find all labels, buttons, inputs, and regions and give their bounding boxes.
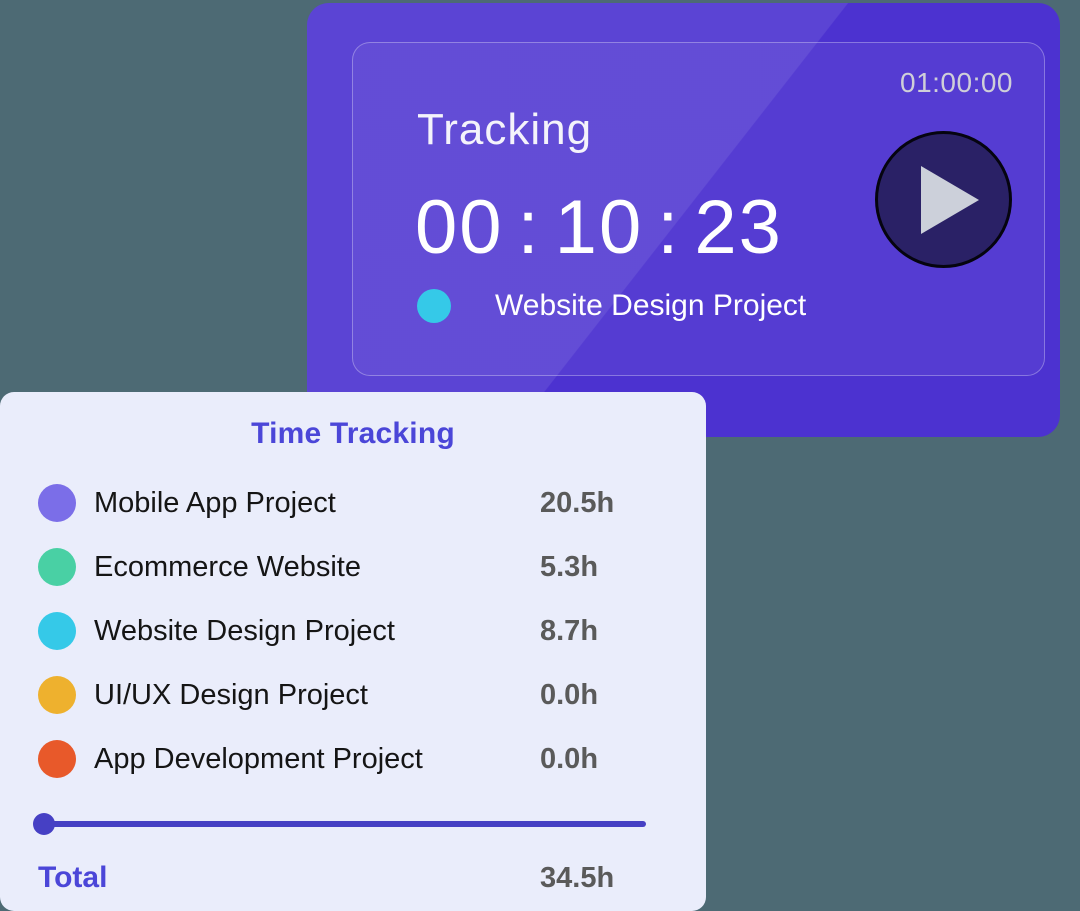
total-label: Total	[38, 861, 107, 895]
list-item[interactable]: App Development Project 0.0h	[0, 727, 706, 791]
project-color-dot	[38, 548, 76, 586]
current-project[interactable]: Website Design Project	[417, 289, 806, 323]
tracking-inner-panel: 01:00:00 Tracking 00:10:23 Website Desig…	[352, 42, 1045, 376]
project-name: Mobile App Project	[94, 487, 336, 520]
project-color-dot	[38, 676, 76, 714]
list-item[interactable]: Ecommerce Website 5.3h	[0, 535, 706, 599]
project-color-dot	[38, 740, 76, 778]
project-color-dot	[38, 484, 76, 522]
timer-minutes: 10	[555, 185, 644, 270]
elapsed-timer: 00:10:23	[415, 184, 783, 271]
slider-track[interactable]	[42, 821, 646, 827]
slider-handle[interactable]	[33, 813, 55, 835]
tracking-card: 01:00:00 Tracking 00:10:23 Website Desig…	[307, 3, 1060, 437]
project-hours: 0.0h	[540, 679, 598, 712]
current-project-color-dot	[417, 289, 451, 323]
total-hours: 34.5h	[540, 862, 614, 895]
timer-separator-2: :	[643, 185, 694, 270]
project-color-dot	[38, 612, 76, 650]
list-item[interactable]: Mobile App Project 20.5h	[0, 471, 706, 535]
timer-seconds: 23	[694, 185, 783, 270]
list-item[interactable]: Website Design Project 8.7h	[0, 599, 706, 663]
list-item[interactable]: UI/UX Design Project 0.0h	[0, 663, 706, 727]
timer-separator-1: :	[504, 185, 555, 270]
screen: 01:00:00 Tracking 00:10:23 Website Desig…	[0, 0, 1080, 911]
project-hours: 0.0h	[540, 743, 598, 776]
project-list: Mobile App Project 20.5h Ecommerce Websi…	[0, 471, 706, 791]
current-project-name: Website Design Project	[495, 289, 806, 323]
tracking-heading: Tracking	[417, 105, 592, 155]
play-button[interactable]	[875, 131, 1012, 268]
project-name: UI/UX Design Project	[94, 679, 368, 712]
project-hours: 8.7h	[540, 615, 598, 648]
project-hours: 5.3h	[540, 551, 598, 584]
project-name: Website Design Project	[94, 615, 395, 648]
time-tracking-title: Time Tracking	[0, 417, 706, 451]
session-limit-label: 01:00:00	[900, 67, 1013, 99]
timer-hours: 00	[415, 185, 504, 270]
project-name: App Development Project	[94, 743, 423, 776]
play-icon	[921, 166, 979, 234]
time-tracking-card: Time Tracking Mobile App Project 20.5h E…	[0, 392, 706, 911]
project-name: Ecommerce Website	[94, 551, 361, 584]
total-row: Total 34.5h	[0, 853, 706, 903]
project-hours: 20.5h	[540, 487, 614, 520]
time-range-slider[interactable]	[33, 813, 646, 835]
